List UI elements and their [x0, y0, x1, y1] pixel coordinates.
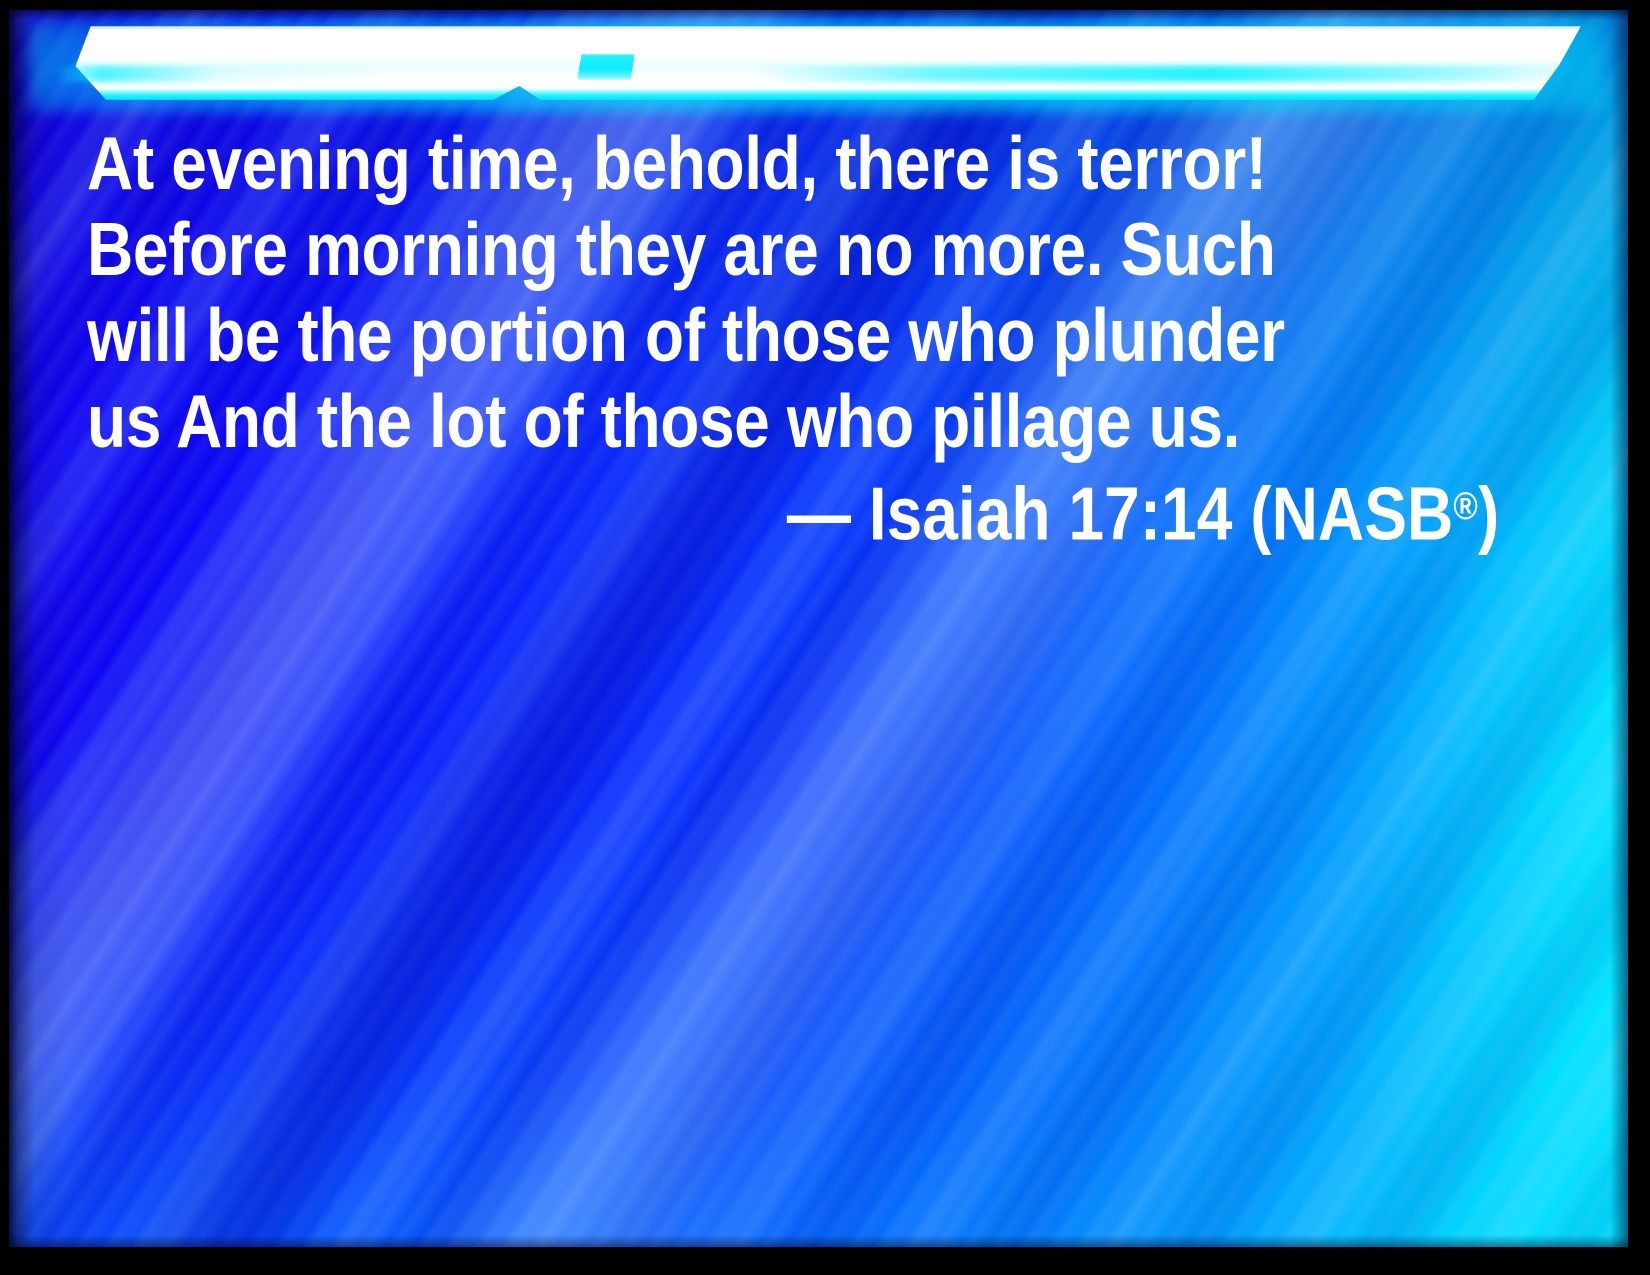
attribution-space-2: [1050, 471, 1068, 555]
verse-line-4: us And the lot of those who pillage us.: [87, 378, 1327, 464]
verse-attribution: — Isaiah 17:14 (NASB®): [87, 464, 1499, 556]
attribution-paren-open: (: [1250, 471, 1271, 555]
attribution-paren-close: ): [1478, 471, 1499, 555]
attribution-reference: 17:14: [1068, 471, 1232, 555]
attribution-translation: NASB: [1271, 471, 1453, 555]
attribution-em-dash: —: [787, 471, 851, 555]
registered-trademark-icon: ®: [1453, 485, 1478, 528]
top-banner-notch: [577, 54, 635, 80]
verse-line-3: will be the portion of those who plunder: [87, 292, 1327, 378]
top-banner-cyan-stripe: [55, 66, 1575, 82]
slide-canvas: At evening time, behold, there is terror…: [0, 0, 1650, 1275]
attribution-space-3: [1232, 471, 1250, 555]
verse-text-block: At evening time, behold, there is terror…: [87, 120, 1537, 464]
verse-line-2: Before morning they are no more. Such: [87, 206, 1327, 292]
attribution-space-1: [851, 471, 869, 555]
verse-line-1: At evening time, behold, there is terror…: [87, 120, 1327, 206]
top-banner-bar: [51, 26, 1581, 100]
artwork-plate: At evening time, behold, there is terror…: [9, 10, 1628, 1247]
attribution-inner: — Isaiah 17:14 (NASB®): [787, 464, 1499, 556]
attribution-book: Isaiah: [869, 471, 1051, 555]
